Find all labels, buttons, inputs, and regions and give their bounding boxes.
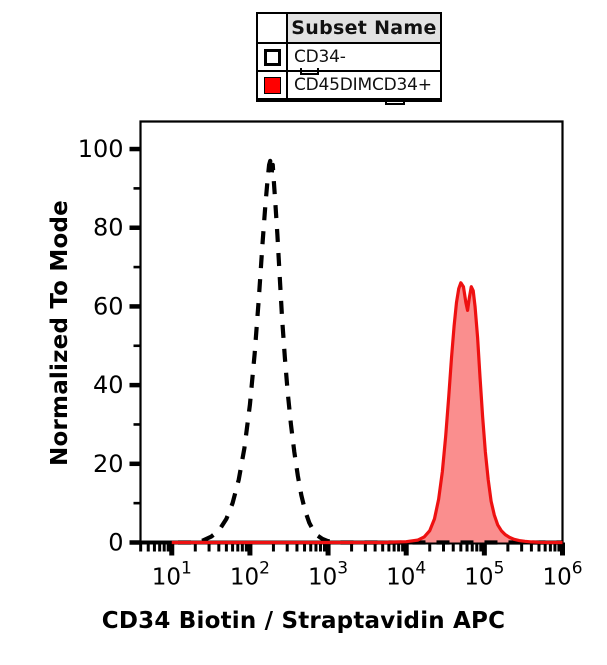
y-axis-title: Normalized To Mode xyxy=(47,143,73,523)
plot-canvas: 101102103104105106 020406080100 xyxy=(0,0,607,665)
svg-text:104: 104 xyxy=(386,559,426,591)
svg-text:106: 106 xyxy=(542,559,582,591)
y-axis-ticks xyxy=(130,149,141,542)
svg-text:105: 105 xyxy=(464,559,504,591)
svg-text:0: 0 xyxy=(108,529,123,557)
data-series-group xyxy=(172,161,563,543)
svg-text:103: 103 xyxy=(308,559,348,591)
svg-text:102: 102 xyxy=(230,559,270,591)
x-axis-tick-labels: 101102103104105106 xyxy=(152,559,583,591)
svg-text:20: 20 xyxy=(93,450,124,478)
series-CD34- xyxy=(178,161,563,543)
y-axis-tick-labels: 020406080100 xyxy=(78,135,124,556)
svg-text:60: 60 xyxy=(93,292,124,320)
svg-text:80: 80 xyxy=(93,214,124,242)
x-axis-title: CD34 Biotin / Straptavidin APC xyxy=(0,608,607,634)
svg-text:101: 101 xyxy=(152,559,192,591)
svg-text:40: 40 xyxy=(93,371,124,399)
axes-frame xyxy=(140,122,563,543)
flow-cytometry-histogram-figure: Subset Name CD34- CD45DIMCD34+ 10110 xyxy=(0,0,607,665)
svg-text:100: 100 xyxy=(78,135,124,163)
